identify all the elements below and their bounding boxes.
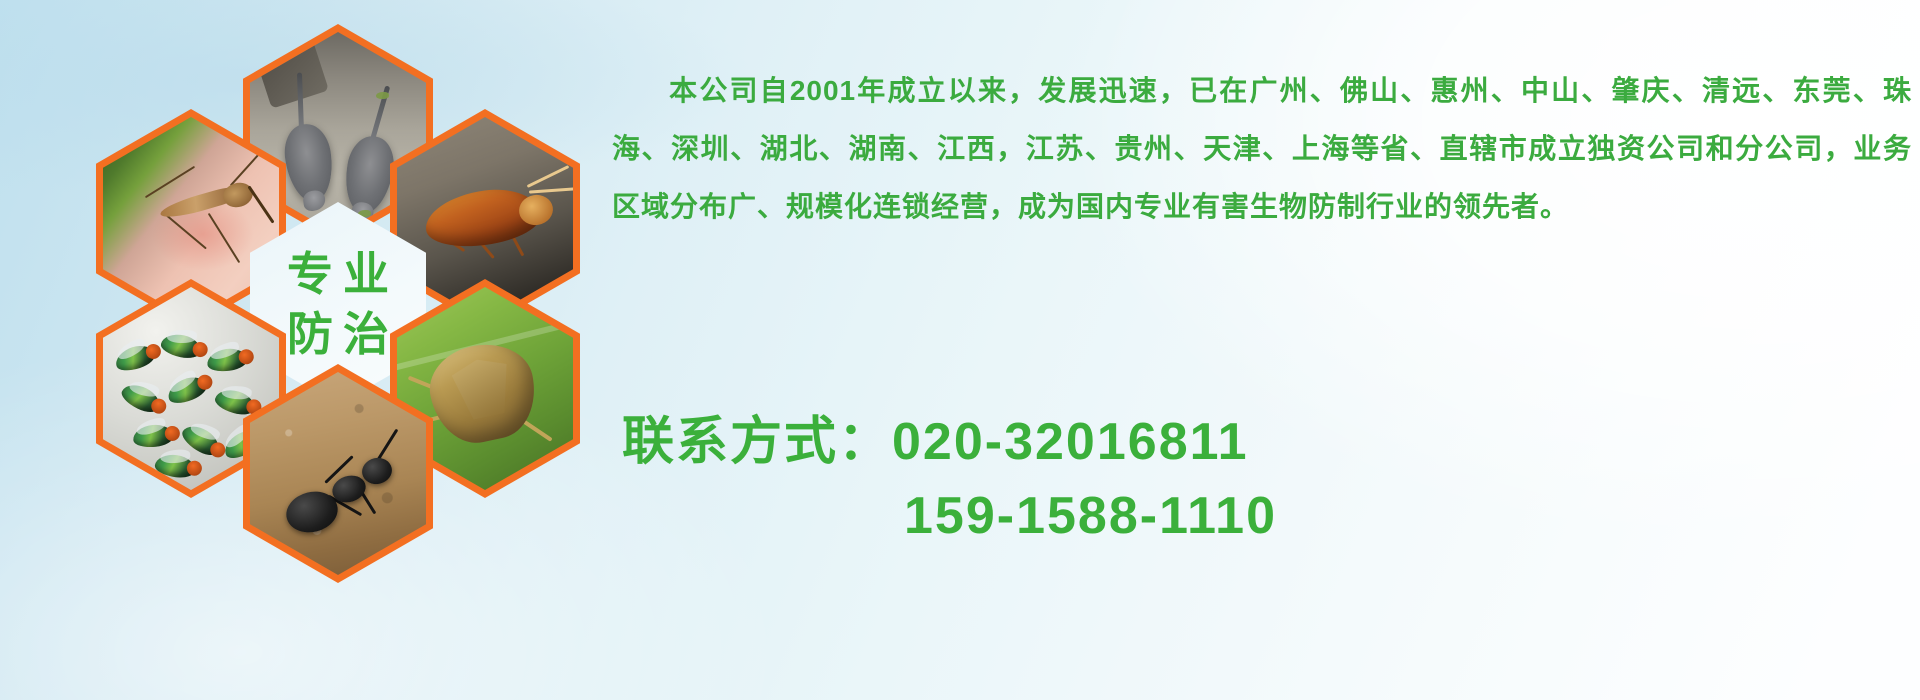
fly-icon (118, 379, 164, 416)
contact-label: 联系方式： (622, 413, 892, 471)
fly-icon (113, 341, 158, 374)
fly-icon (159, 331, 203, 361)
fly-icon (213, 386, 258, 418)
cockroach-antenna-icon (529, 187, 573, 193)
fly-icon (206, 346, 249, 373)
company-intro-text: 本公司自2001年成立以来，发展迅速，已在广州、佛山、惠州、中山、肇庆、清远、东… (612, 75, 1912, 222)
mosquito-thorax-icon (220, 179, 255, 210)
fly-icon (132, 423, 174, 449)
contact-phone-secondary[interactable]: 159-1588-1110 (904, 487, 1277, 545)
mosquito-leg-icon (145, 166, 195, 198)
ant-photo (250, 372, 426, 575)
fly-icon (164, 372, 209, 407)
contact-block: 联系方式：020-32016811 159-1588-1110 (622, 405, 1822, 553)
slogan-line-1: 专业 (277, 251, 399, 297)
fly-icon (154, 452, 197, 479)
honeycomb-photo-cluster: 专业 防治 (78, 10, 598, 570)
rat-icon (281, 121, 337, 205)
company-intro-paragraph: 本公司自2001年成立以来，发展迅速，已在广州、佛山、惠州、中山、肇庆、清远、东… (612, 62, 1912, 236)
slogan-line-2: 防治 (277, 311, 399, 357)
contact-secondary-line: 159-1588-1110 (622, 479, 1822, 553)
leaf-debris-icon (376, 92, 389, 99)
mosquito-leg-icon (208, 213, 240, 263)
mosquito-proboscis-icon (247, 185, 274, 223)
contact-phone-primary[interactable]: 020-32016811 (892, 413, 1249, 471)
cockroach-antenna-icon (527, 165, 570, 188)
pest-control-banner: 专业 防治 (0, 0, 1920, 700)
contact-primary-line: 联系方式：020-32016811 (622, 405, 1822, 479)
company-intro-block: 本公司自2001年成立以来，发展迅速，已在广州、佛山、惠州、中山、肇庆、清远、东… (612, 34, 1912, 264)
